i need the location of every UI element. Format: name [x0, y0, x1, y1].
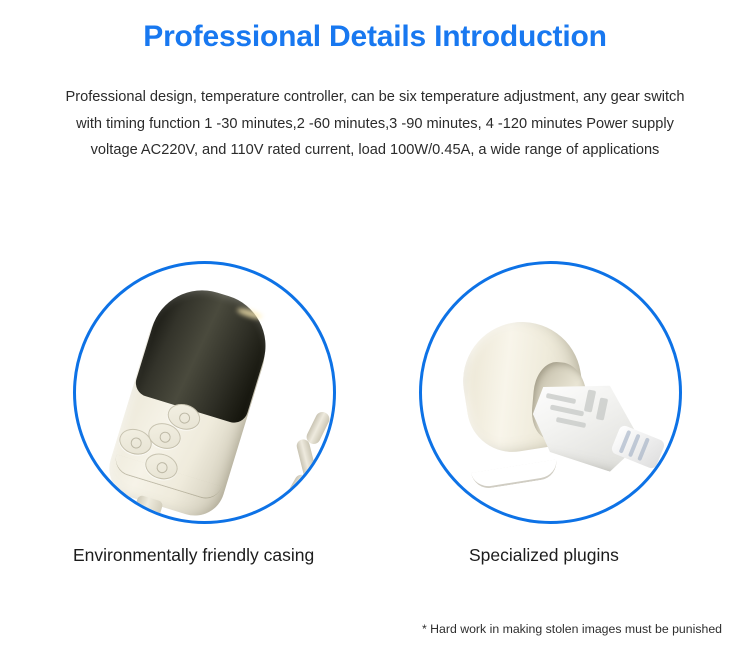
feature-caption-plugins: Specialized plugins [469, 545, 619, 566]
cord-groove [637, 437, 650, 461]
button-glyph [155, 460, 169, 474]
button-glyph [177, 411, 191, 425]
cable-segment [279, 472, 310, 513]
socket-cap-lip [471, 459, 559, 490]
feature-photo-row [0, 261, 750, 527]
controller-photo [76, 264, 333, 521]
page-title: Professional Details Introduction [0, 18, 750, 56]
plug-photo [422, 264, 679, 521]
feature-photo-circle-casing [73, 261, 336, 524]
feature-caption-casing: Environmentally friendly casing [73, 545, 314, 566]
loose-cable [257, 409, 327, 519]
footer-warning-note: * Hard work in making stolen images must… [422, 622, 722, 636]
feature-photo-circle-plugins [419, 261, 682, 524]
button-glyph [158, 430, 172, 444]
button-glyph [129, 436, 143, 450]
intro-description: Professional design, temperature control… [62, 84, 688, 164]
socket-cap-plug-illustration [446, 304, 666, 494]
